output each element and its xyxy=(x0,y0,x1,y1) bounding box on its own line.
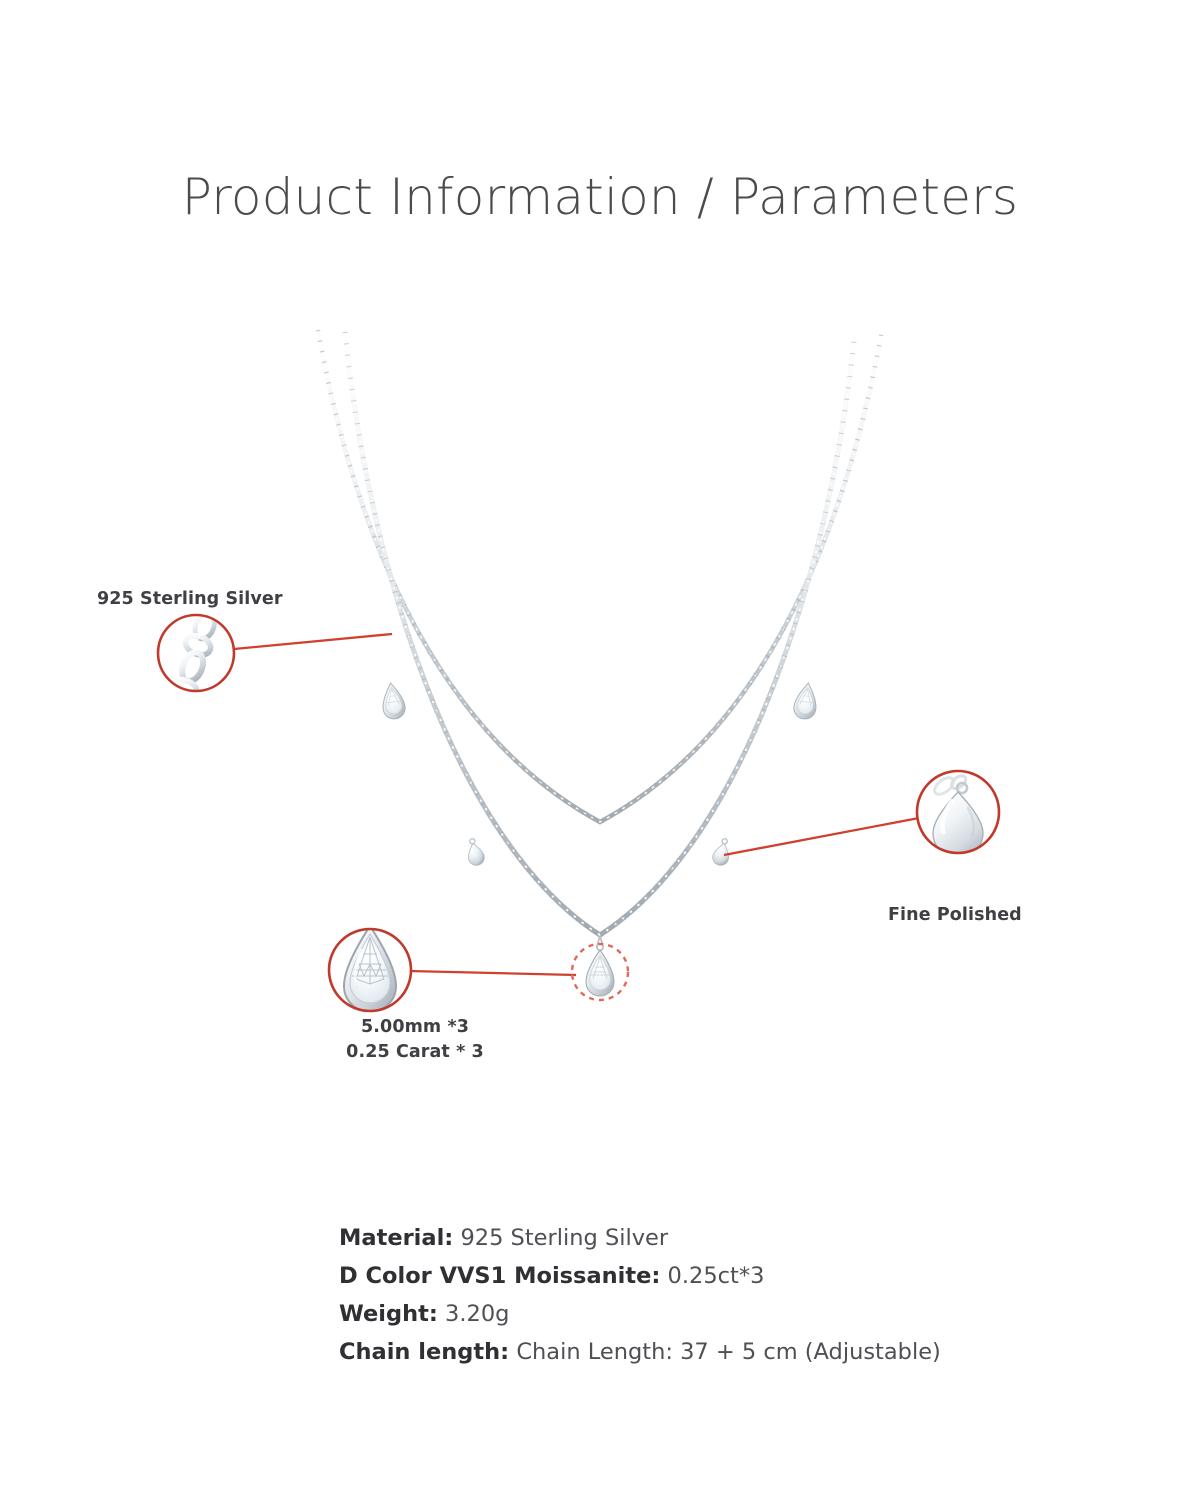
spec-key-weight: Weight: xyxy=(339,1301,438,1327)
callout-stone-size xyxy=(329,926,628,1013)
leader-line-sterling-silver xyxy=(234,634,392,649)
spec-key-chain-length: Chain length: xyxy=(339,1339,509,1365)
spec-value-material: 925 Sterling Silver xyxy=(460,1225,668,1251)
bezel-pear-stone-right xyxy=(792,682,819,721)
leader-line-fine-polished xyxy=(724,818,919,855)
leader-line-stone-size xyxy=(409,971,576,975)
product-info-page: Product Information / Parameters xyxy=(0,0,1200,1500)
spec-value-weight: 3.20g xyxy=(445,1301,509,1327)
spec-row-moissanite: D Color VVS1 Moissanite: 0.25ct*3 xyxy=(339,1257,1099,1295)
callout-label-sterling-silver: 925 Sterling Silver xyxy=(97,589,283,609)
callout-sterling-silver xyxy=(156,610,392,703)
spec-value-chain-length: Chain Length: 37 + 5 cm (Adjustable) xyxy=(516,1339,941,1365)
plain-teardrop-right xyxy=(711,837,733,867)
callout-label-stone-size: 5.00mm *3 0.25 Carat * 3 xyxy=(300,1015,530,1065)
spec-value-moissanite: 0.25ct*3 xyxy=(668,1263,765,1289)
spec-key-moissanite: D Color VVS1 Moissanite: xyxy=(339,1263,660,1289)
specification-list: Material: 925 Sterling Silver D Color VV… xyxy=(339,1219,1099,1371)
stone-size-line-1: 5.00mm *3 xyxy=(300,1015,530,1040)
callout-label-fine-polished: Fine Polished xyxy=(888,905,1022,925)
plain-teardrop-left xyxy=(464,837,486,867)
spec-key-material: Material: xyxy=(339,1225,453,1251)
necklace-illustration xyxy=(0,0,1200,1120)
upper-strand xyxy=(318,330,882,822)
bezel-pear-stone-left xyxy=(380,682,407,721)
callout-fine-polished xyxy=(724,768,1001,858)
spec-row-chain-length: Chain length: Chain Length: 37 + 5 cm (A… xyxy=(339,1333,1099,1371)
spec-row-material: Material: 925 Sterling Silver xyxy=(339,1219,1099,1257)
stone-size-line-2: 0.25 Carat * 3 xyxy=(300,1040,530,1065)
spec-row-weight: Weight: 3.20g xyxy=(339,1295,1099,1333)
